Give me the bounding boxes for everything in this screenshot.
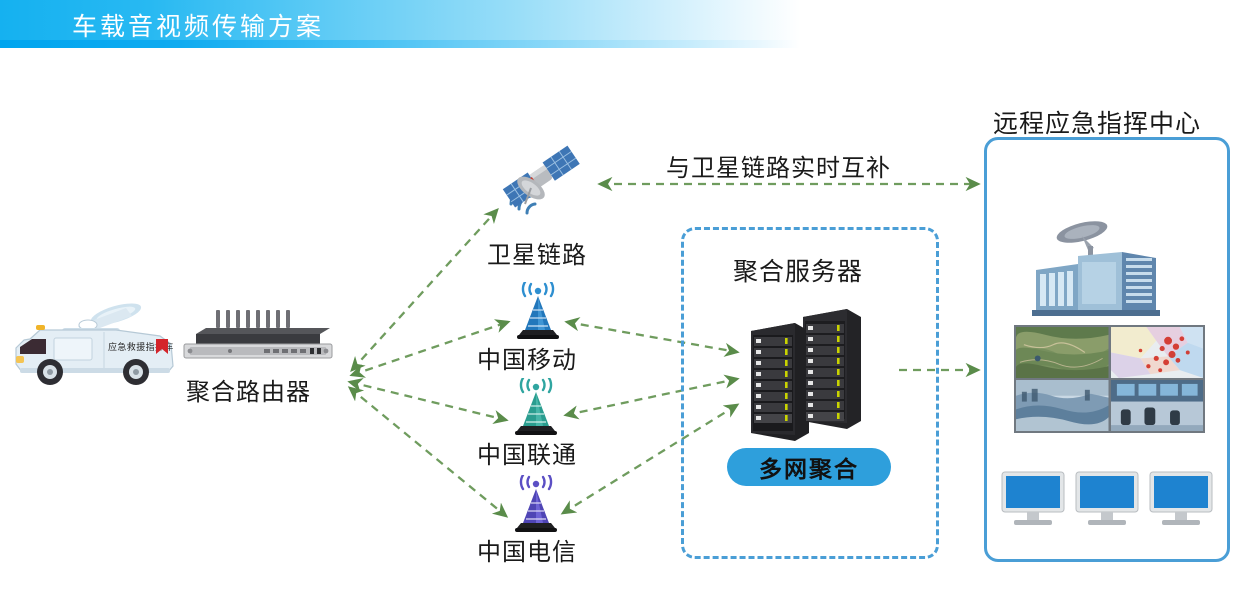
carrier-label-telecom: 中国电信 (477, 532, 577, 567)
satellite-complement-label: 与卫星链路实时互补 (666, 148, 891, 183)
command-center-building-icon (1022, 218, 1172, 318)
satellite-link-label: 卫星链路 (487, 235, 587, 270)
aggregation-router-device (178, 310, 338, 370)
satellite-icon (495, 142, 587, 230)
link-router-unicom (350, 382, 506, 420)
video-wall-cell-flood-scene (1016, 380, 1109, 431)
emergency-command-vehicle: 应急救援指挥车 (8, 292, 183, 392)
monitor-row (1000, 470, 1215, 530)
router-label: 聚合路由器 (186, 372, 311, 407)
link-router-satellite (352, 210, 497, 370)
multi-network-aggregation-badge: 多网聚合 (727, 448, 891, 486)
video-wall (1014, 325, 1205, 433)
server-rack-icon (743, 305, 871, 445)
diagram-canvas: 车载音视频传输方案 (0, 0, 1238, 600)
cell-tower-icon-mobile (507, 282, 569, 344)
video-wall-cell-control-room (1111, 380, 1204, 431)
cell-tower-icon-telecom (505, 475, 567, 537)
video-wall-cell-terrain-map (1016, 327, 1109, 378)
command-center-title: 远程应急指挥中心 (993, 104, 1201, 140)
video-wall-cell-incident-heatmap (1111, 327, 1204, 378)
carrier-label-mobile: 中国移动 (477, 340, 577, 375)
aggregation-server-title: 聚合服务器 (733, 252, 863, 288)
carrier-label-unicom: 中国联通 (477, 435, 577, 470)
page-title: 车载音视频传输方案 (72, 7, 324, 43)
cell-tower-icon-unicom (505, 378, 567, 440)
